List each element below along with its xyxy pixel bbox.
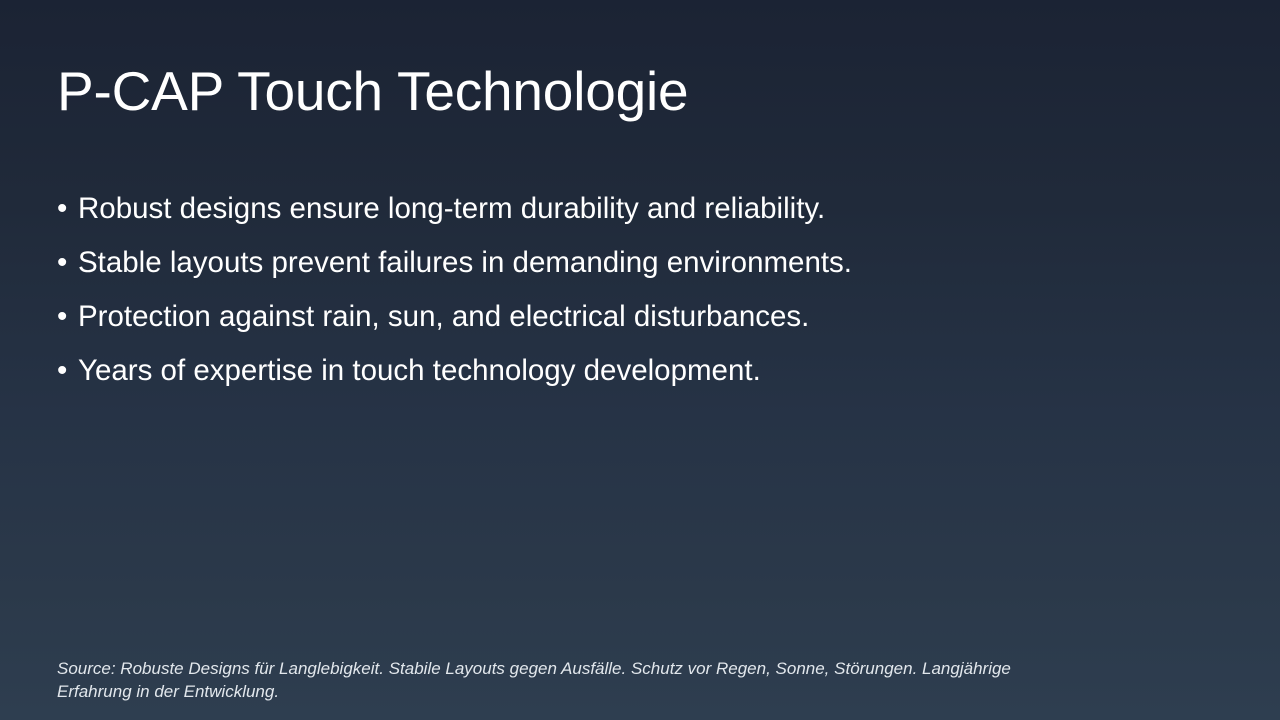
- bullet-point-icon: •: [57, 190, 78, 228]
- list-item: • Stable layouts prevent failures in dem…: [57, 244, 1157, 298]
- list-item-label: Robust designs ensure long-term durabili…: [78, 190, 825, 228]
- page-title: P-CAP Touch Technologie: [57, 57, 1217, 125]
- bullet-list: • Robust designs ensure long-term durabi…: [57, 190, 1157, 406]
- list-item: • Robust designs ensure long-term durabi…: [57, 190, 1157, 244]
- list-item-label: Stable layouts prevent failures in deman…: [78, 244, 852, 282]
- bullet-point-icon: •: [57, 352, 78, 390]
- list-item: • Years of expertise in touch technology…: [57, 352, 1157, 406]
- source-note: Source: Robuste Designs für Langlebigkei…: [57, 658, 1037, 703]
- list-item: • Protection against rain, sun, and elec…: [57, 298, 1157, 352]
- list-item-label: Protection against rain, sun, and electr…: [78, 298, 809, 336]
- bullet-point-icon: •: [57, 244, 78, 282]
- source-note-text: Source: Robuste Designs für Langlebigkei…: [57, 659, 1011, 701]
- slide-canvas: P-CAP Touch Technologie • Robust designs…: [0, 0, 1280, 720]
- list-item-label: Years of expertise in touch technology d…: [78, 352, 761, 390]
- bullet-point-icon: •: [57, 298, 78, 336]
